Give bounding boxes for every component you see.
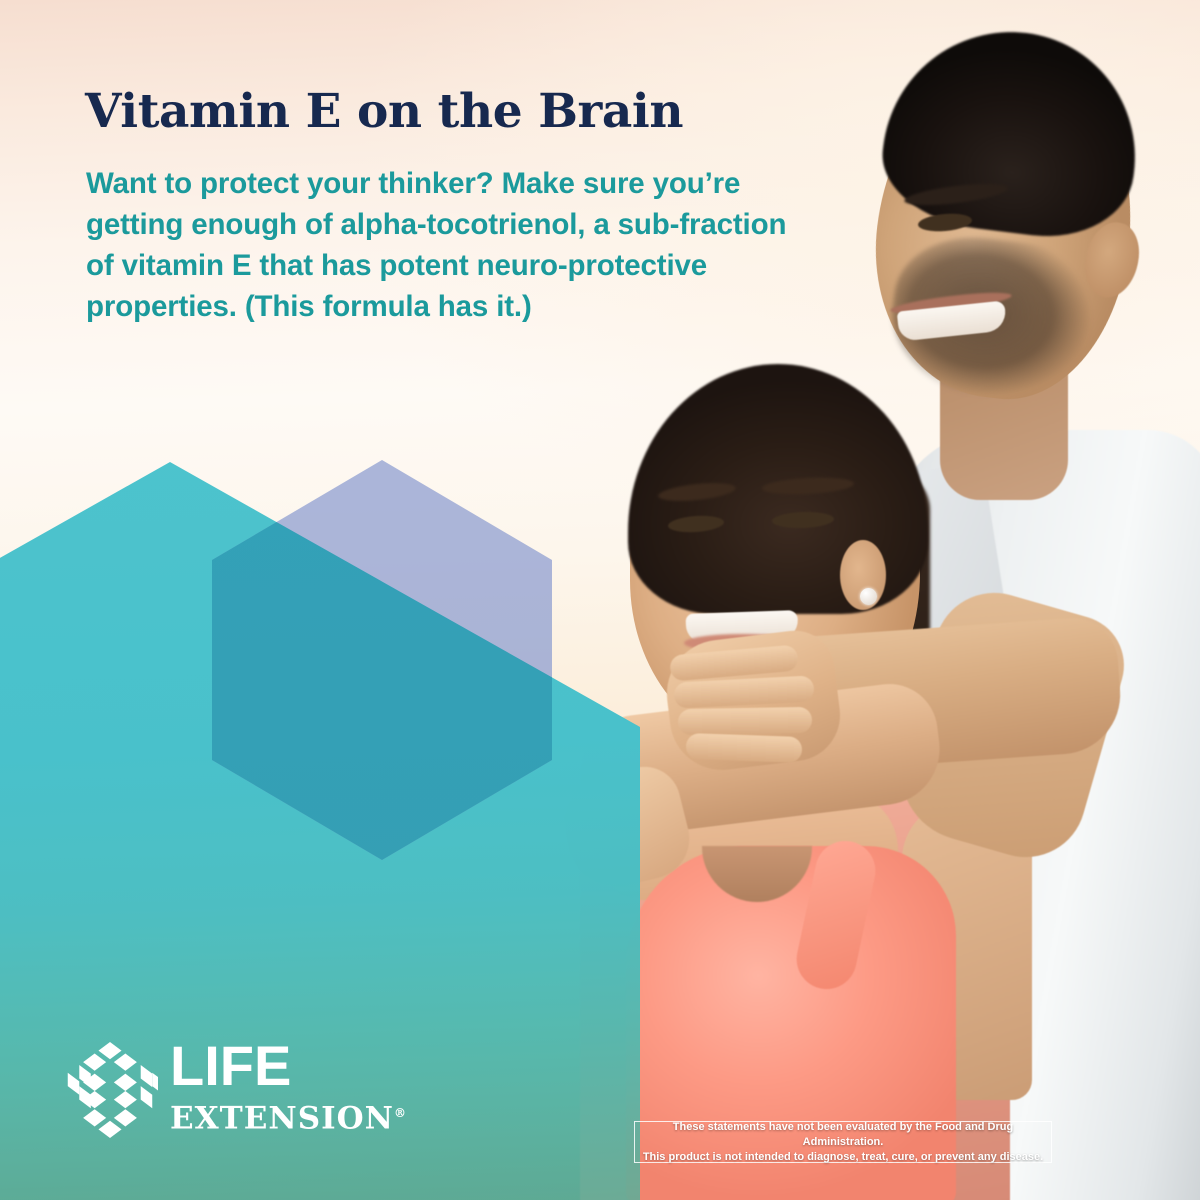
logo-extension-text: EXTENSION® [170, 1094, 406, 1137]
brand-logo: LIFE EXTENSION® [62, 1038, 392, 1142]
body-copy: Want to protect your thinker? Make sure … [86, 163, 816, 327]
man-finger [678, 707, 812, 735]
fda-disclaimer-line-1: These statements have not been evaluated… [635, 1120, 1051, 1150]
logo-wordmark: LIFE EXTENSION® [170, 1038, 406, 1137]
hexagon-mandala-icon [62, 1040, 158, 1140]
marketing-poster: Vitamin E on the Brain Want to protect y… [0, 0, 1200, 1200]
registered-trademark-icon: ® [394, 1106, 406, 1120]
pearl-earring [860, 588, 877, 605]
logo-life-text: LIFE [170, 1038, 406, 1094]
fda-disclaimer-line-2: This product is not intended to diagnose… [643, 1150, 1043, 1165]
man-finger [686, 733, 803, 763]
fda-disclaimer: These statements have not been evaluated… [634, 1121, 1052, 1163]
page-title: Vitamin E on the Brain [85, 86, 845, 138]
logo-extension-label: EXTENSION [170, 1100, 394, 1136]
